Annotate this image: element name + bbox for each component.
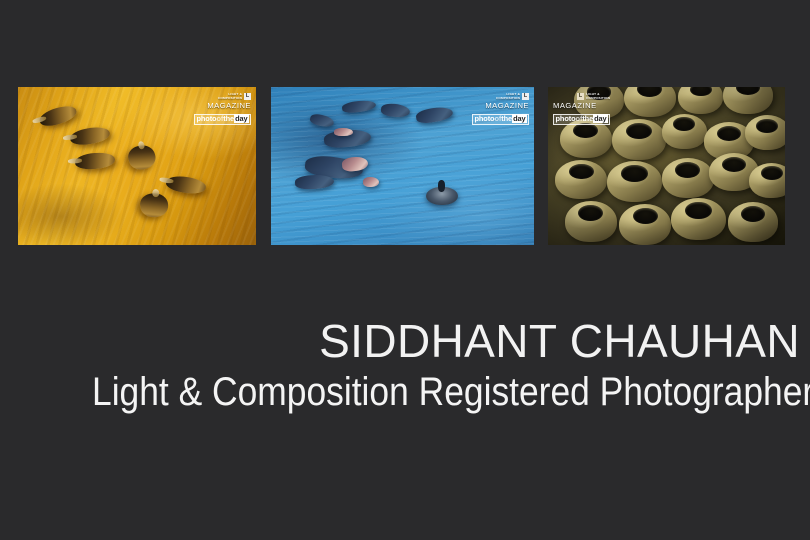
clay-pot [607, 161, 662, 202]
photo-gallery: LIGHT & COMPOSITION L MAGAZINE photoofth… [0, 87, 810, 245]
clay-pot [612, 119, 667, 160]
badge-magazine-label: MAGAZINE [194, 102, 251, 110]
rock-shape [310, 113, 335, 129]
gallery-photo-pots[interactable]: LIGHT & COMPOSITION L MAGAZINE photoofth… [548, 87, 785, 245]
rock-shape [381, 103, 411, 118]
clay-pot [678, 87, 723, 114]
photographer-name: SIDDHANT CHAUHAN [0, 318, 800, 364]
rock-shape [341, 99, 376, 114]
duck-shape [139, 193, 169, 219]
photographer-credential: Light & Composition Registered Photograp… [92, 372, 800, 412]
badge-logo-icon: L [522, 93, 529, 100]
duck-shape [165, 174, 207, 196]
potd-word-of: of [494, 114, 501, 123]
clay-pot [728, 202, 778, 242]
clay-pot [619, 204, 671, 245]
clay-pot [749, 163, 785, 198]
clay-pot [723, 87, 773, 114]
duck-shape [69, 125, 111, 146]
badge-brand-row: LIGHT & COMPOSITION L [472, 93, 529, 100]
watermark-badge: LIGHT & COMPOSITION L MAGAZINE photoofth… [194, 93, 251, 125]
clay-pot [624, 87, 676, 117]
duck-shape [38, 103, 79, 129]
badge-magazine-label: MAGAZINE [472, 102, 529, 110]
clay-pot [709, 153, 759, 191]
potd-word-photo: photo [196, 114, 216, 123]
potd-word-the: the [582, 114, 593, 123]
potd-word-of: of [216, 114, 223, 123]
badge-photo-of-the-day: photooftheday [553, 114, 610, 125]
watermark-badge: LIGHT & COMPOSITION L MAGAZINE photoofth… [472, 93, 529, 125]
potd-word-day: day [593, 114, 607, 123]
badge-brand-text: LIGHT & COMPOSITION [586, 93, 610, 100]
poster-canvas: LIGHT & COMPOSITION L MAGAZINE photoofth… [0, 0, 810, 540]
badge-brand-text: LIGHT & COMPOSITION [496, 93, 520, 100]
watermark-badge: LIGHT & COMPOSITION L MAGAZINE photoofth… [553, 93, 610, 125]
badge-brand-text: LIGHT & COMPOSITION [218, 93, 242, 100]
clay-pot [704, 122, 754, 160]
potd-word-photo: photo [474, 114, 494, 123]
gallery-photo-ducks[interactable]: LIGHT & COMPOSITION L MAGAZINE photoofth… [18, 87, 256, 245]
clay-pot [555, 160, 607, 200]
gallery-photo-boat[interactable]: LIGHT & COMPOSITION L MAGAZINE photoofth… [271, 87, 534, 245]
potd-word-the: the [223, 114, 234, 123]
potd-word-day: day [512, 114, 526, 123]
clay-pot [565, 201, 617, 242]
potd-word-the: the [501, 114, 512, 123]
duck-shape [75, 152, 116, 171]
clay-pot [671, 198, 726, 241]
potd-word-day: day [234, 114, 248, 123]
rock-shape [415, 105, 454, 125]
badge-brand-row: LIGHT & COMPOSITION L [553, 93, 610, 100]
rock-shape [294, 174, 334, 190]
potd-word-photo: photo [556, 114, 576, 123]
rock-shape-highlight [341, 155, 369, 172]
badge-logo-icon: L [244, 93, 251, 100]
badge-photo-of-the-day: photooftheday [194, 114, 251, 125]
potd-word-of: of [576, 114, 583, 123]
badge-brand-row: LIGHT & COMPOSITION L [194, 93, 251, 100]
coracle-boat [426, 187, 458, 206]
clay-pot [662, 158, 714, 198]
clay-pot [662, 114, 707, 149]
badge-magazine-label: MAGAZINE [553, 102, 610, 110]
rock-shape-highlight [334, 128, 352, 136]
duck-shape [126, 143, 158, 173]
clay-pot [745, 115, 785, 150]
rock-shape-highlight [363, 177, 379, 186]
badge-logo-icon: L [577, 93, 584, 100]
badge-photo-of-the-day: photooftheday [472, 114, 529, 125]
